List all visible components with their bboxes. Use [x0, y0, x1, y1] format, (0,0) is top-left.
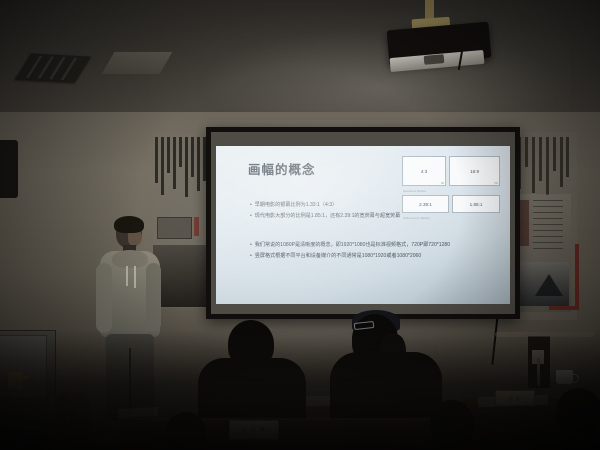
aspect-label: 1.85:1 — [470, 202, 483, 207]
ceiling-light-glow — [150, 10, 570, 120]
slide-title: 画幅的概念 — [248, 159, 316, 178]
classroom-photo-scene: 画幅的概念 • 早期电影的银幕比例为1.33:1（4:3） • 现代电影大部分的… — [0, 0, 600, 450]
wall-art-left-seal — [194, 217, 199, 236]
presenter-hood-string-left — [126, 266, 128, 286]
slide-bullet: • 竖屏格式根据不同平台和设备媒介的不同通常是1080*1920或者1080*2… — [250, 253, 456, 261]
scroll-red-corner-accent — [549, 244, 579, 310]
bullet-dot-icon: • — [250, 242, 252, 250]
projector-lens-icon — [424, 54, 445, 65]
presentation-slide: 画幅的概念 • 早期电影的银幕比例为1.33:1（4:3） • 现代电影大部分的… — [216, 146, 510, 304]
wall-art-left-bars — [155, 137, 206, 199]
aspect-box-1-85: 1.85:1 — [452, 195, 500, 213]
aspect-caption-bottom: Widescreen Ratios — [403, 216, 500, 220]
presenter-hood-string-right — [134, 266, 136, 288]
presenter-arm-left — [96, 263, 112, 333]
floor-shadow — [0, 330, 600, 450]
aspect-ratio-diagram: 4:3 SD 16:9 HD Standard Ratios 2.39:1 — [402, 156, 500, 222]
bullet-dot-icon: • — [250, 213, 252, 221]
aspect-box-2-39: 2.39:1 — [402, 195, 449, 213]
aspect-label: 4:3 — [421, 169, 427, 174]
aspect-label: 2.39:1 — [419, 202, 432, 207]
aspect-mini-label: SD — [441, 182, 444, 185]
bullet-text: 竖屏格式根据不同平台和设备媒介的不同通常是1080*1920或者1080*206… — [255, 253, 456, 261]
projection-screen-surface: 画幅的概念 • 早期电影的银幕比例为1.33:1（4:3） • 现代电影大部分的… — [211, 132, 515, 314]
aspect-row-widescreen: 2.39:1 1.85:1 — [402, 195, 500, 213]
slide-bullet: • 我们常说的1080P是清晰度的概念，即1920*1080也是标准视频格式，7… — [250, 242, 456, 250]
bullet-dot-icon: • — [250, 253, 252, 261]
bullet-text: 我们常说的1080P是清晰度的概念，即1920*1080也是标准视频格式，720… — [255, 242, 456, 250]
wall-speaker-left-icon — [0, 140, 18, 198]
aspect-mini-label: HD — [495, 182, 498, 185]
presenter-arm-right — [146, 263, 161, 331]
presenter-hood — [112, 250, 148, 268]
aspect-box-4-3: 4:3 SD — [402, 156, 446, 186]
presenter-hair — [114, 216, 144, 233]
aspect-label: 16:9 — [470, 169, 479, 174]
aspect-box-16-9: 16:9 HD — [449, 156, 500, 186]
slide-bullet-group-bottom: • 我们常说的1080P是清晰度的概念，即1920*1080也是标准视频格式，7… — [250, 242, 456, 263]
aspect-caption-top: Standard Ratios — [403, 189, 500, 193]
bullet-dot-icon: • — [250, 202, 252, 210]
aspect-row-standard: 4:3 SD 16:9 HD — [402, 156, 500, 186]
projection-screen-frame: 画幅的概念 • 早期电影的银幕比例为1.33:1（4:3） • 现代电影大部分的… — [206, 127, 520, 319]
